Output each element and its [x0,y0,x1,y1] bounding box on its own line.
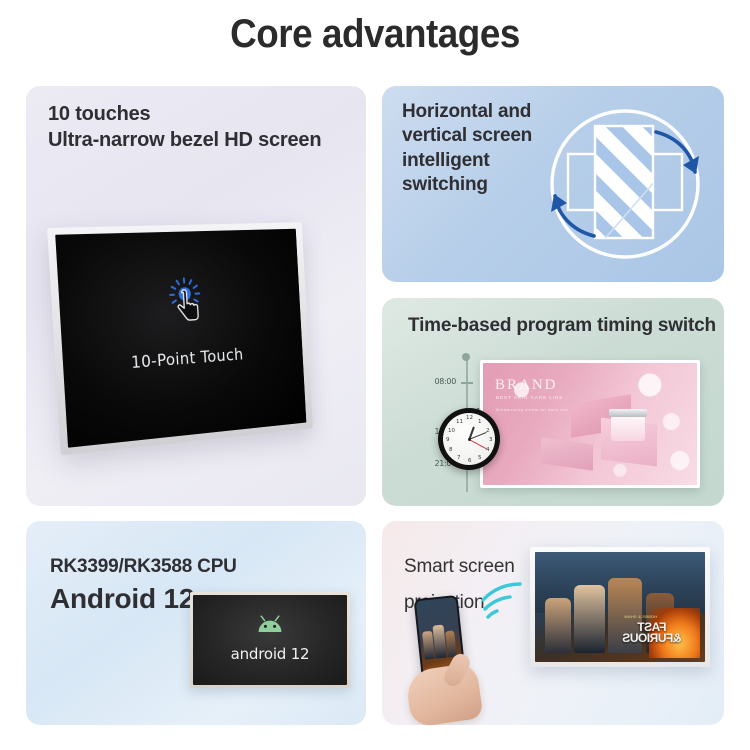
ad-subtitle: BEST SKIN CARE LINE [496,395,563,400]
clock-numeral: 2 [486,428,490,434]
monitor-screen-caption: 10-Point Touch [63,341,303,378]
clock-numeral: 10 [448,428,455,434]
clock-numeral: 8 [449,447,453,453]
projection-tv: HOBBS & SHAW FAST &FURIOUS [530,547,710,667]
clock-center-pin [468,438,471,441]
timeline-top-dot [462,353,470,361]
clock-numeral: 3 [489,437,493,443]
clock-numeral: 5 [478,455,482,461]
android-screen-label: android 12 [193,645,347,663]
touch-card-heading: 10 touches Ultra-narrow bezel HD screen [48,102,321,153]
timeline-label: 08:00 [434,377,456,386]
hand-palm [404,662,483,725]
card-screen-projection: Smart screen projection HOBBS & SHAW FAS… [382,521,724,725]
android-display: android 12 [190,592,350,688]
tv-screen: HOBBS & SHAW FAST &FURIOUS [535,552,705,662]
android-version-heading: Android 12 [50,581,194,617]
card-touch-screen: 10 touches Ultra-narrow bezel HD screen [26,86,366,506]
clock-numeral: 6 [468,458,472,464]
card-screen-rotation: Horizontal and vertical screen intellige… [382,86,724,282]
touch-hand-icon [160,274,210,328]
phone-poster-figure [433,625,447,659]
ad-cosmetic-jar-lid [609,409,647,417]
card-timing-switch: Time-based program timing switch 08:00 1… [382,298,724,506]
monitor-bezel: 10-Point Touch [47,222,313,455]
ad-description: Moisturizing cream for daily use [496,407,568,414]
page-title: Core advantages [30,12,720,57]
cpu-model-heading: RK3399/RK3588 CPU [50,555,237,579]
clock-second-hand [469,439,487,449]
ad-cosmetic-jar [611,415,645,441]
clock-numeral: 11 [456,419,463,425]
advertisement-display: BRAND BEST SKIN CARE LINE Moisturizing c… [480,360,700,488]
phone-poster-figure [422,631,434,660]
screen-rotation-icon [536,94,714,274]
monitor-screen: 10-Point Touch [55,229,306,448]
clock-numeral: 7 [457,455,461,461]
ad-box-left [541,437,593,470]
ad-brand-text: BRAND [495,377,558,394]
advertisement-image: BRAND BEST SKIN CARE LINE Moisturizing c… [483,363,697,485]
poster-title: FAST &FURIOUS [613,622,691,645]
clock-face: 12 1 2 3 4 5 6 7 8 9 10 11 [443,413,495,465]
core-advantages-infographic: Core advantages 10 touches Ultra-narrow … [0,0,750,750]
android-robot-icon [257,615,283,633]
card-cpu-android: RK3399/RK3588 CPU Android 12 android 12 [26,521,366,725]
clock-numeral: 12 [466,415,473,421]
phone-poster-figure [445,630,456,657]
touch-monitor-illustration: 10-Point Touch [54,228,354,478]
android-display-screen: android 12 [193,595,347,685]
poster-figure [574,585,605,653]
timeline-tick [461,382,473,384]
clock-numeral: 9 [446,437,450,443]
analog-clock-icon: 12 1 2 3 4 5 6 7 8 9 10 11 [438,408,500,470]
cast-waves-icon [478,577,530,623]
timer-card-heading: Time-based program timing switch [408,314,716,338]
clock-numeral: 1 [478,419,482,425]
poster-figure [545,598,571,653]
